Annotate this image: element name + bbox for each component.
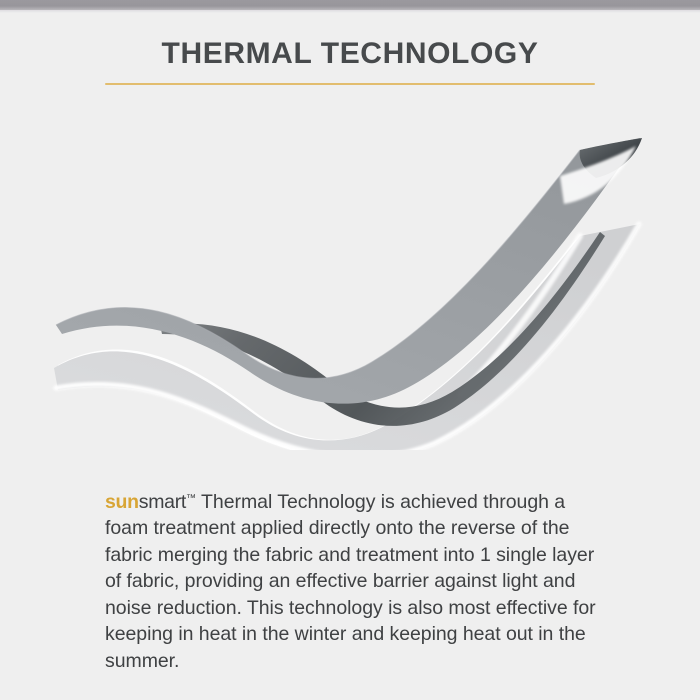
product-feature-panel: THERMAL TECHNOLOGY (0, 0, 700, 700)
title-divider-rule (105, 83, 595, 85)
thermal-fabric-illustration (40, 120, 660, 450)
top-chrome-bar (0, 0, 700, 10)
page-title: THERMAL TECHNOLOGY (0, 37, 700, 71)
brand-sun-text: sun (105, 491, 139, 513)
top-chrome-bar-shadow (0, 10, 700, 13)
description-paragraph: Thermal Technology is achieved through a… (105, 491, 596, 673)
feature-description: sunsmart™ Thermal Technology is achieved… (105, 486, 597, 675)
trademark-mark: ™ (186, 493, 196, 504)
brand-smart-text: smart (139, 491, 186, 513)
